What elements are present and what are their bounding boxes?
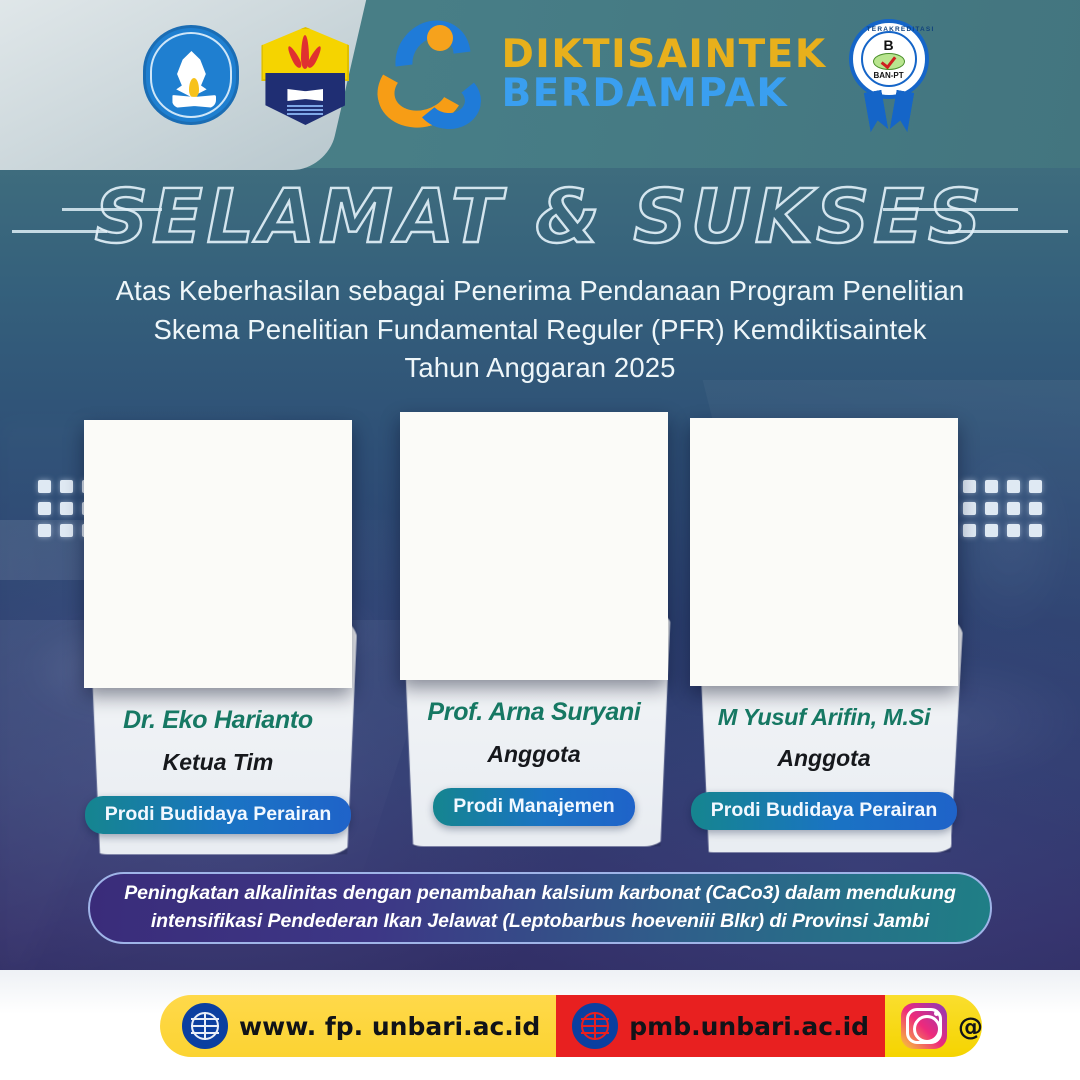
person-role: Anggota	[690, 745, 958, 772]
water-lines-icon	[287, 105, 323, 117]
globe-icon	[182, 1003, 228, 1049]
tut-wuri-handayani-logo	[143, 25, 239, 125]
brand-line-2: BERDAMPAK	[501, 76, 826, 113]
unbari-logo	[253, 23, 357, 127]
research-title-banner: Peningkatan alkalinitas dengan penambaha…	[88, 872, 992, 944]
subtitle-line-2: Skema Penelitian Fundamental Reguler (PF…	[0, 311, 1080, 350]
poster-root: DIKTISAINTEK BERDAMPAK TERAKREDITASI B B…	[0, 0, 1080, 1080]
footer-website-text: www. fp. unbari.ac.id	[239, 1012, 540, 1041]
globe-icon	[572, 1003, 618, 1049]
badge-top-label: TERAKREDITASI	[867, 26, 935, 33]
badge-grade: B	[883, 38, 893, 52]
subtitle-block: Atas Keberhasilan sebagai Penerima Penda…	[0, 272, 1080, 388]
badge-circle: TERAKREDITASI B BAN-PT	[849, 19, 929, 99]
brand-line-1: DIKTISAINTEK	[501, 37, 826, 74]
diktisaintek-brand-text: DIKTISAINTEK BERDAMPAK	[501, 37, 826, 112]
person-role: Anggota	[400, 741, 668, 768]
footer-instagram-segment[interactable]: @bdpfpunbari	[885, 995, 982, 1057]
person-role: Ketua Tim	[84, 749, 352, 776]
subtitle-line-1: Atas Keberhasilan sebagai Penerima Penda…	[0, 272, 1080, 311]
portrait-eko-harianto	[84, 420, 352, 688]
diktisaintek-mark	[371, 19, 491, 131]
instagram-icon	[901, 1003, 947, 1049]
person-name: Dr. Eko Harianto	[84, 706, 352, 735]
person-program-badge: Prodi Manajemen	[433, 788, 634, 826]
footer-admissions-text: pmb.unbari.ac.id	[629, 1012, 869, 1041]
research-line-1: Peningkatan alkalinitas dengan penambaha…	[124, 882, 956, 904]
footer-contact-strip: www. fp. unbari.ac.id pmb.unbari.ac.id @…	[160, 995, 982, 1057]
photo-frame	[690, 418, 958, 686]
photo-frame	[400, 412, 668, 680]
card-body: Dr. Eko Harianto Ketua Tim Prodi Budiday…	[84, 706, 352, 834]
photo-frame	[84, 420, 352, 688]
badge-oval	[873, 53, 905, 70]
footer-website-segment[interactable]: www. fp. unbari.ac.id	[160, 995, 556, 1057]
person-name: M Yusuf Arifin, M.Si	[690, 704, 958, 731]
portrait-m-yusuf-arifin	[690, 418, 958, 686]
page-title: SELAMAT & SUKSES	[95, 174, 986, 260]
research-title-text: Peningkatan alkalinitas dengan penambaha…	[124, 880, 956, 935]
book-icon	[172, 95, 216, 108]
leaf-icon	[289, 33, 321, 77]
person-program-badge: Prodi Budidaya Perairan	[85, 796, 352, 834]
ban-pt-accreditation-badge: TERAKREDITASI B BAN-PT	[841, 19, 937, 131]
card-body: M Yusuf Arifin, M.Si Anggota Prodi Budid…	[690, 704, 958, 830]
person-name: Prof. Arna Suryani	[400, 698, 668, 727]
headline-row: SELAMAT & SUKSES	[0, 178, 1080, 256]
check-icon	[880, 53, 896, 70]
research-line-2: intensifikasi Pendederan Ikan Jelawat (L…	[151, 910, 929, 932]
badge-body-label: BAN-PT	[873, 71, 903, 80]
people-card-row: Dr. Eko Harianto Ketua Tim Prodi Budiday…	[0, 412, 1080, 852]
card-body: Prof. Arna Suryani Anggota Prodi Manajem…	[400, 698, 668, 826]
footer-admissions-segment[interactable]: pmb.unbari.ac.id	[556, 995, 885, 1057]
footer-instagram-text: @bdpfpunbari	[958, 1012, 982, 1041]
ribbon-icon	[867, 91, 911, 131]
badge-inner: B BAN-PT	[861, 31, 917, 87]
subtitle-line-3: Tahun Anggaran 2025	[0, 349, 1080, 388]
logo-row: DIKTISAINTEK BERDAMPAK TERAKREDITASI B B…	[0, 0, 1080, 150]
person-program-badge: Prodi Budidaya Perairan	[691, 792, 958, 830]
portrait-arna-suryani	[400, 412, 668, 680]
